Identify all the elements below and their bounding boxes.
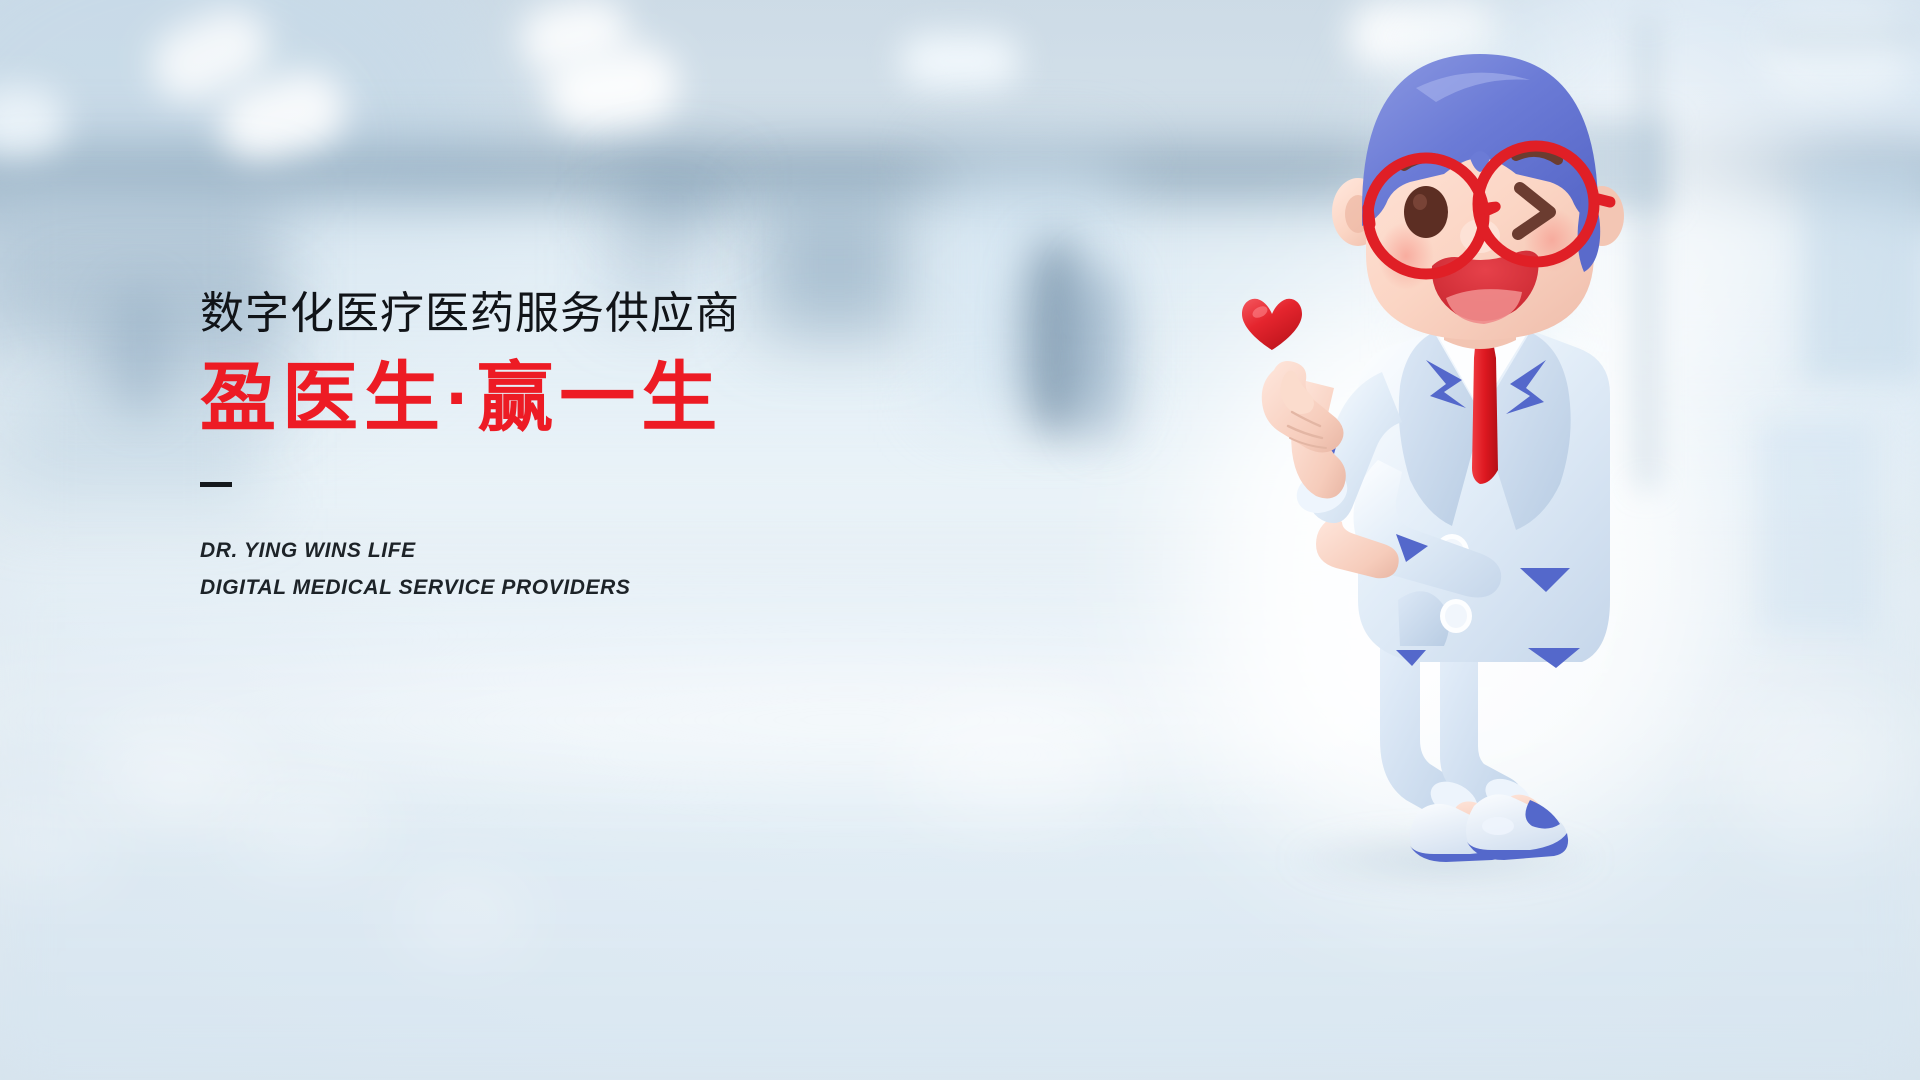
floor-highlight: [400, 880, 530, 950]
hero-subtitle: DR. YING WINS LIFE DIGITAL MEDICAL SERVI…: [200, 533, 960, 605]
doctor-mascot: [1230, 40, 1690, 870]
person-silhouette: [110, 286, 170, 416]
floor-highlight: [90, 740, 260, 820]
ceiling-light: [900, 34, 1020, 88]
hero-banner: 数字化医疗医药服务供应商 盈医生·赢一生 DR. YING WINS LIFE …: [0, 0, 1920, 1080]
sneakers: [1410, 794, 1568, 862]
hero-copy: 数字化医疗医药服务供应商 盈医生·赢一生 DR. YING WINS LIFE …: [200, 290, 960, 606]
glass-partition: [1804, 160, 1920, 380]
sneaker-right-stripe: [1525, 800, 1560, 829]
glasses-temple-left: [1368, 208, 1370, 224]
floating-heart: [1242, 299, 1302, 350]
hero-slogan: 盈医生·赢一生: [200, 358, 960, 440]
glass-partition: [1770, 30, 1920, 42]
page-title: 数字化医疗医药服务供应商: [200, 290, 960, 338]
corridor-sign: [626, 176, 722, 222]
glass-partition: [1758, 420, 1876, 630]
divider: [200, 482, 232, 487]
person-silhouette: [1074, 262, 1130, 442]
floor-highlight: [230, 790, 380, 856]
sneaker-highlight: [1482, 817, 1514, 835]
open-eye: [1404, 186, 1448, 238]
subtitle-line-1: DR. YING WINS LIFE: [200, 533, 960, 569]
floor-highlight: [900, 700, 1130, 820]
red-tie: [1472, 336, 1498, 484]
glasses-temple-right: [1594, 198, 1610, 202]
coat-button-inner: [1445, 604, 1467, 628]
finger-heart-hand: [1262, 361, 1344, 453]
ceiling-light: [1760, 10, 1910, 100]
subtitle-line-2: DIGITAL MEDICAL SERVICE PROVIDERS: [200, 570, 960, 606]
open-eye-highlight: [1413, 194, 1427, 210]
floor-highlight: [1720, 690, 1920, 850]
glasses-bridge: [1478, 206, 1496, 212]
